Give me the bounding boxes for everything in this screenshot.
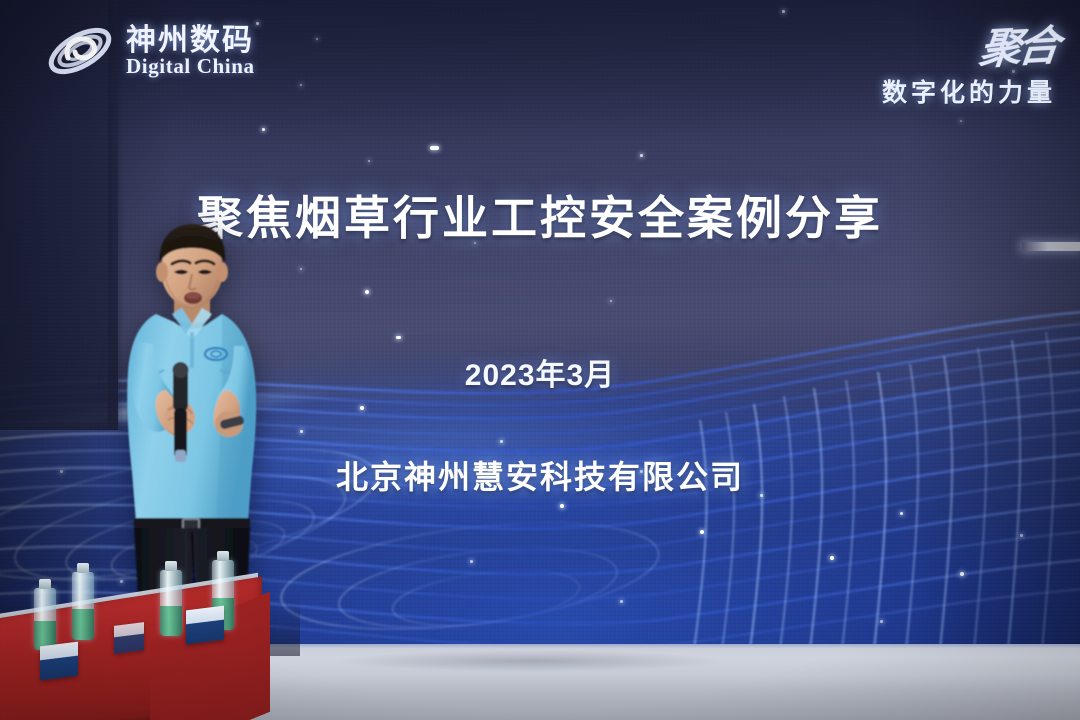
foreground-judges-table bbox=[0, 560, 300, 720]
name-card bbox=[186, 606, 224, 645]
water-bottle bbox=[72, 572, 94, 640]
name-card bbox=[40, 642, 78, 681]
brand-name-en: Digital China bbox=[126, 54, 255, 78]
event-theme-tagline: 数字化的力量 bbox=[882, 73, 1056, 109]
water-bottle bbox=[34, 588, 56, 650]
event-theme-calligraphy: 聚合 bbox=[976, 12, 1059, 77]
name-card bbox=[114, 622, 144, 654]
digital-china-swirl-icon bbox=[44, 18, 116, 84]
stage-floor-shadow bbox=[250, 646, 810, 676]
digital-china-logo: 神州数码 Digital China bbox=[44, 18, 255, 84]
microphone bbox=[173, 362, 189, 462]
event-theme-logo: 聚合 数字化的力量 bbox=[882, 14, 1056, 109]
brand-name-cn: 神州数码 bbox=[126, 24, 254, 57]
digital-china-wordmark: 神州数码 Digital China bbox=[126, 26, 255, 77]
conference-stage-photo: 神州数码 Digital China 聚合 数字化的力量 聚焦烟草行业工控安全案… bbox=[0, 0, 1080, 720]
water-bottle bbox=[160, 570, 182, 636]
